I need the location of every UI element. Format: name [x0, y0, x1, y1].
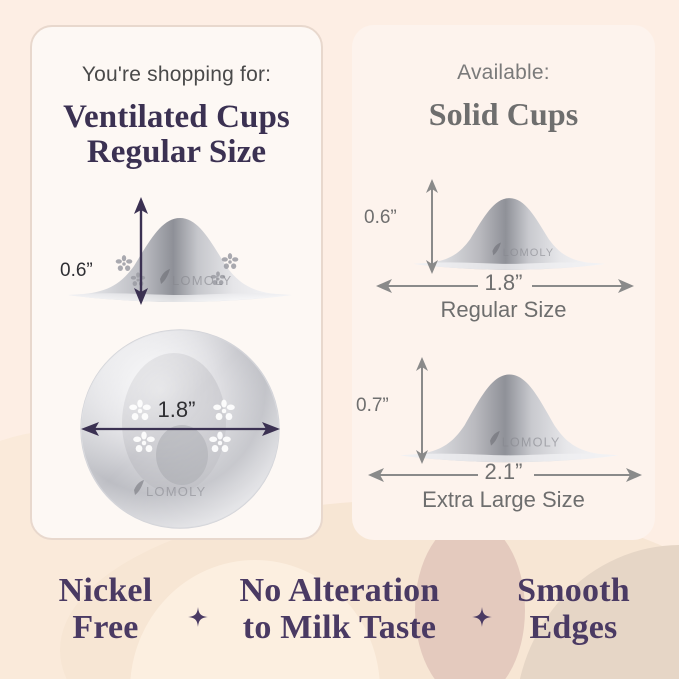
feature-no-alteration-line1: No Alteration [215, 573, 465, 610]
right-regular-height-label: 0.6” [364, 207, 397, 229]
right-xl-height-arrow [410, 355, 434, 467]
feature-smooth-edges-line1: Smooth [499, 573, 649, 610]
right-regular-caption: Regular Size [352, 297, 655, 323]
right-xl-width-label: 2.1” [352, 459, 655, 485]
right-regular-height-arrow [420, 177, 444, 277]
left-cup-top-view: LOMOLY [78, 327, 283, 532]
feature-no-alteration-line2: to Milk Taste [215, 610, 465, 647]
left-height-arrow [127, 195, 155, 310]
sparkle-icon-1 [181, 607, 215, 627]
right-regular-width-label: 1.8” [352, 270, 655, 296]
right-headline: Solid Cups [352, 98, 655, 131]
left-headline-line2: Regular Size [32, 135, 321, 169]
feature-nickel-free-line1: Nickel [31, 573, 181, 610]
left-eyebrow: You're shopping for: [32, 63, 321, 87]
right-xl-caption: Extra Large Size [352, 487, 655, 513]
svg-text:LOMOLY: LOMOLY [172, 273, 232, 288]
feature-no-alteration: No Alteration to Milk Taste [215, 573, 465, 646]
feature-smooth-edges-line2: Edges [499, 610, 649, 647]
feature-nickel-free-line2: Free [31, 610, 181, 647]
right-eyebrow: Available: [352, 61, 655, 85]
feature-nickel-free: Nickel Free [31, 573, 181, 646]
svg-text:LOMOLY: LOMOLY [502, 436, 561, 450]
right-product-card: Available: Solid Cups [352, 25, 655, 540]
feature-smooth-edges: Smooth Edges [499, 573, 649, 646]
left-height-label: 0.6” [60, 260, 93, 282]
right-xl-height-label: 0.7” [356, 395, 389, 417]
feature-bar: Nickel Free No Alteration to Milk Taste … [0, 556, 679, 664]
svg-text:LOMOLY: LOMOLY [503, 247, 555, 259]
left-product-card: You're shopping for: Ventilated Cups Reg… [30, 25, 323, 540]
left-cup-side-view: LOMOLY [60, 192, 300, 307]
left-headline-line1: Ventilated Cups [32, 100, 321, 134]
product-infographic: You're shopping for: Ventilated Cups Reg… [0, 0, 679, 679]
sparkle-icon-2 [465, 607, 499, 627]
left-diameter-label: 1.8” [32, 397, 321, 423]
svg-text:LOMOLY: LOMOLY [146, 484, 206, 499]
